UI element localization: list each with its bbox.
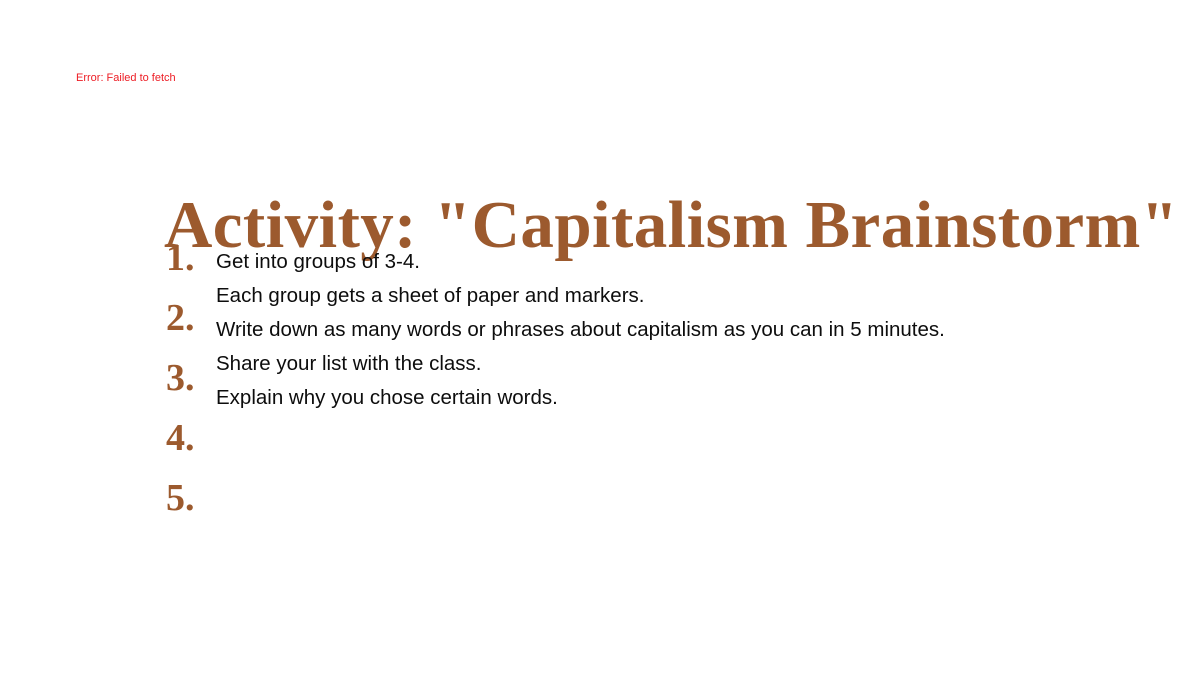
list-text-column: Get into groups of 3-4. Each group gets … <box>216 248 1166 418</box>
list-number: 5. <box>166 476 226 536</box>
list-item: Get into groups of 3-4. <box>216 248 1166 282</box>
activity-list: 1. 2. 3. 4. 5. Get into groups of 3-4. E… <box>0 0 1200 675</box>
slide-canvas: Error: Failed to fetch Activity: "Capita… <box>0 0 1200 675</box>
list-item: Each group gets a sheet of paper and mar… <box>216 282 1166 316</box>
list-item: Write down as many words or phrases abou… <box>216 316 1166 350</box>
list-number: 4. <box>166 416 226 476</box>
list-item: Explain why you chose certain words. <box>216 384 1166 418</box>
list-item: Share your list with the class. <box>216 350 1166 384</box>
